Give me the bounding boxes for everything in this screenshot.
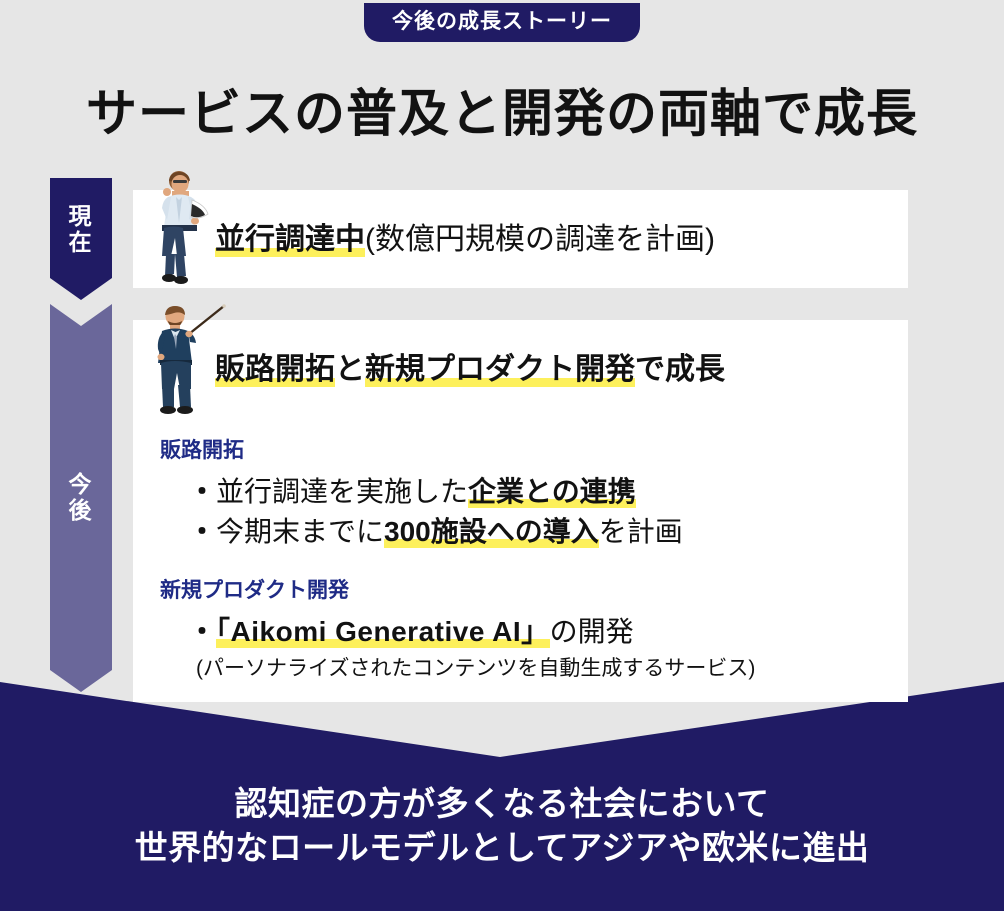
- headline-highlight-2a: 販路開拓: [215, 353, 335, 387]
- headline-highlight-1: 並行調達中: [215, 223, 365, 257]
- page-title: サービスの普及と開発の両軸で成長: [0, 72, 1004, 146]
- footer-line-1: 認知症の方が多くなる社会において: [0, 782, 1004, 826]
- bullet-sales-2-highlight: 300施設への導入: [384, 516, 599, 548]
- section-heading-sales-expansion: 販路開拓: [160, 440, 244, 461]
- bullet-sales-1-plain: 並行調達を実施した: [216, 476, 468, 507]
- bullet-sales-1-highlight: 企業との連携: [468, 476, 636, 508]
- headline-plain-1: (数億円規模の調達を計画): [365, 223, 715, 256]
- timeline-banner-now: 現 在: [50, 178, 112, 300]
- bullet-sales-2-plain-a: 今期末までに: [216, 516, 384, 547]
- headline-highlight-2b: 新規プロダクト開発: [365, 353, 635, 387]
- slide-canvas: 認知症の方が多くなる社会において 世界的なロールモデルとしてアジアや欧米に進出 …: [0, 0, 1004, 911]
- bullet-sales-2: ・今期末までに300施設への導入を計画: [188, 518, 683, 546]
- bullet-product-1-plain: の開発: [550, 616, 634, 647]
- headline-plain-2a: と: [335, 353, 365, 386]
- banner-now-char-1: 現: [69, 204, 94, 230]
- headline-plain-2b: で成長: [635, 353, 725, 386]
- bullet-product-1: ・「Aikomi Generative AI」の開発: [188, 618, 634, 646]
- card-future-headline: 販路開拓と新規プロダクト開発で成長: [215, 355, 725, 385]
- bullet-marker: ・: [188, 616, 216, 647]
- card-current-headline: 並行調達中(数億円規模の調達を計画): [215, 225, 715, 255]
- bullet-marker: ・: [188, 476, 216, 507]
- product-note: (パーソナライズされたコンテンツを自動生成するサービス): [196, 658, 755, 679]
- footer-line-2: 世界的なロールモデルとしてアジアや欧米に進出: [0, 826, 1004, 870]
- bullet-sales-1: ・並行調達を実施した企業との連携: [188, 478, 636, 506]
- banner-future-char-1: 今: [69, 472, 94, 498]
- businessman-on-phone-with-tablet-icon: [148, 170, 218, 290]
- bullet-sales-2-plain-b: を計画: [599, 516, 683, 547]
- banner-future-char-2: 後: [69, 498, 94, 524]
- banner-now-char-2: 在: [69, 230, 94, 256]
- section-heading-new-product: 新規プロダクト開発: [160, 580, 349, 601]
- section-badge: 今後の成長ストーリー: [364, 3, 640, 42]
- timeline-banner-future: 今 後: [50, 304, 112, 692]
- bullet-product-1-highlight: 「Aikomi Generative AI」: [216, 616, 550, 648]
- bullet-marker: ・: [188, 516, 216, 547]
- footer-message: 認知症の方が多くなる社会において 世界的なロールモデルとしてアジアや欧米に進出: [0, 782, 1004, 869]
